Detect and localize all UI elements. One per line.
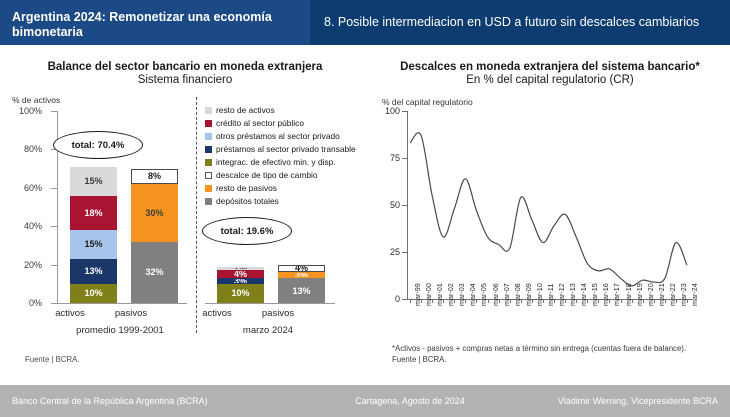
y-tick-label-40: 40% xyxy=(8,221,42,231)
bar-segment-label: 8% xyxy=(148,171,161,181)
x-axis-tick xyxy=(609,299,610,303)
x-axis-tick xyxy=(687,299,688,303)
x-axis-tick xyxy=(632,299,633,303)
legend-item-label: integrac. de efectivo min. y disp. xyxy=(216,157,336,167)
legend-swatch-icon xyxy=(205,120,212,127)
bar-segment[interactable]: 13% xyxy=(278,278,325,303)
bar-segment[interactable]: 10% xyxy=(70,284,117,303)
y-tick-100 xyxy=(51,111,57,112)
header-left-block: Argentina 2024: Remonetizar una economía… xyxy=(0,0,310,45)
bar-segment[interactable]: 13% xyxy=(70,259,117,284)
bar-stack-pasivos-2024[interactable]: 13%3%4% xyxy=(278,265,325,303)
x-axis-tick xyxy=(410,299,411,303)
right-chart-title: Descalces en moneda extranjera del siste… xyxy=(370,61,730,73)
legend-item-label: resto de pasivos xyxy=(216,183,277,193)
x-axis-tick xyxy=(665,299,666,303)
legend-item[interactable]: resto de activos xyxy=(205,105,370,115)
x-axis-tick xyxy=(565,299,566,303)
left-chart-source: Fuente | BCRA. xyxy=(25,355,79,364)
legend-item[interactable]: crédito al sector público xyxy=(205,118,370,128)
bar-segment-label: 13% xyxy=(84,266,102,276)
x-axis-tick xyxy=(554,299,555,303)
legend-item[interactable]: descalce de tipo de cambio xyxy=(205,170,370,180)
x-axis-tick xyxy=(465,299,466,303)
x-axis-tick xyxy=(510,299,511,303)
right-y-tick-100 xyxy=(402,111,407,112)
y-tick-label-60: 60% xyxy=(8,183,42,193)
legend-swatch-icon xyxy=(205,107,212,114)
y-tick-0 xyxy=(51,303,57,304)
y-tick-label-0: 0% xyxy=(8,298,42,308)
x-axis-tick xyxy=(532,299,533,303)
x-axis-tick xyxy=(499,299,500,303)
cat-label-pasivos-1999: pasivos xyxy=(91,308,171,319)
total-badge-1999: total: 70.4% xyxy=(53,131,143,159)
right-chart-subtitle: En % del capital regulatorio (CR) xyxy=(370,74,730,86)
bar-segment[interactable]: 10% xyxy=(217,284,264,303)
legend-item-label: resto de activos xyxy=(216,105,275,115)
left-x-axis-line-group1 xyxy=(57,303,187,304)
bar-stack-pasivos-1999[interactable]: 32%30%8% xyxy=(131,169,178,303)
bar-segment-label: 10% xyxy=(231,288,249,298)
header-right-block: 8. Posible intermediacion en USD a futur… xyxy=(310,0,730,45)
bar-segment-label: 32% xyxy=(145,267,163,277)
x-axis-tick xyxy=(443,299,444,303)
x-axis-tick xyxy=(543,299,544,303)
x-axis-tick xyxy=(432,299,433,303)
x-axis-tick xyxy=(621,299,622,303)
left-chart-title: Balance del sector bancario en moneda ex… xyxy=(0,61,370,73)
right-chart-panel: Descalces en moneda extranjera del siste… xyxy=(370,45,730,385)
legend-item-label: depósitos totales xyxy=(216,196,279,206)
panel-divider xyxy=(196,97,197,333)
y-tick-20 xyxy=(51,265,57,266)
line-series-path xyxy=(410,133,687,286)
legend-swatch-icon xyxy=(205,133,212,140)
right-chart-notes: *Activos - pasivos + compras netas a tér… xyxy=(392,343,686,365)
x-axis-tick xyxy=(521,299,522,303)
legend-swatch-icon xyxy=(205,146,212,153)
y-tick-label-80: 80% xyxy=(8,144,42,154)
right-y-label-75: 75 xyxy=(372,153,400,163)
x-axis-tick xyxy=(488,299,489,303)
legend-item-label: crédito al sector público xyxy=(216,118,304,128)
cat-label-pasivos-2024: pasivos xyxy=(238,308,318,319)
total-badge-1999-text: total: 70.4% xyxy=(72,140,125,151)
slide-section-title: 8. Posible intermediacion en USD a futur… xyxy=(324,15,699,30)
y-tick-60 xyxy=(51,188,57,189)
right-y-label-100: 100 xyxy=(372,106,400,116)
bar-segment-label: 15% xyxy=(84,176,102,186)
group-label-1999: promedio 1999-2001 xyxy=(40,325,200,336)
x-axis-tick xyxy=(421,299,422,303)
bar-segment-label: 18% xyxy=(84,208,102,218)
bar-segment[interactable]: 30% xyxy=(131,184,178,242)
legend-swatch-icon xyxy=(205,198,212,205)
right-y-label-0: 0 xyxy=(372,294,400,304)
bar-segment-label: 13% xyxy=(292,286,310,296)
left-chart-subtitle: Sistema financiero xyxy=(0,74,370,86)
bar-segment[interactable]: 18% xyxy=(70,196,117,231)
x-axis-tick xyxy=(454,299,455,303)
bar-segment-label: 10% xyxy=(84,288,102,298)
slide-footer: Banco Central de la República Argentina … xyxy=(0,385,730,417)
left-chart-legend: resto de activoscrédito al sector públic… xyxy=(205,105,370,209)
bar-segment[interactable]: 15% xyxy=(70,167,117,196)
legend-swatch-icon xyxy=(205,172,212,179)
x-axis-tick xyxy=(476,299,477,303)
right-line-chart: % del capital regulatorio 100 75 50 25 0… xyxy=(370,97,730,347)
legend-swatch-icon xyxy=(205,185,212,192)
left-chart-panel: Balance del sector bancario en moneda ex… xyxy=(0,45,370,385)
right-y-tick-0 xyxy=(402,299,407,300)
legend-item-label: préstamos al sector privado transable xyxy=(216,144,356,154)
left-y-axis-unit: % de activos xyxy=(12,95,60,105)
right-chart-source: Fuente | BCRA. xyxy=(392,354,686,365)
bar-segment-label: 30% xyxy=(145,208,163,218)
bar-segment-label: 4% xyxy=(295,265,308,273)
x-axis-tick xyxy=(587,299,588,303)
bar-segment[interactable]: 4% xyxy=(278,265,325,273)
group-label-2024: marzo 2024 xyxy=(188,325,348,336)
legend-item[interactable]: otros préstamos al sector privado xyxy=(205,131,370,141)
right-y-tick-25 xyxy=(402,252,407,253)
right-y-label-50: 50 xyxy=(372,200,400,210)
presentation-title: Argentina 2024: Remonetizar una economía… xyxy=(12,10,298,40)
bar-segment[interactable]: 32% xyxy=(131,242,178,303)
bar-segment-label: 4% xyxy=(234,270,247,278)
legend-item-label: descalce de tipo de cambio xyxy=(216,170,318,180)
right-y-label-25: 25 xyxy=(372,247,400,257)
footer-event: Cartagena, Agosto de 2024 xyxy=(312,396,508,406)
right-chart-footnote: *Activos - pasivos + compras netas a tér… xyxy=(392,343,686,354)
right-y-tick-50 xyxy=(402,205,407,206)
total-badge-2024: total: 19.6% xyxy=(202,217,292,245)
legend-item[interactable]: integrac. de efectivo min. y disp. xyxy=(205,157,370,167)
y-tick-40 xyxy=(51,226,57,227)
y-tick-label-20: 20% xyxy=(8,260,42,270)
x-axis-tick xyxy=(598,299,599,303)
legend-item[interactable]: depósitos totales xyxy=(205,196,370,206)
total-badge-2024-text: total: 19.6% xyxy=(221,226,274,237)
footer-author: Vladimir Werning, Vicepresidente BCRA xyxy=(508,396,718,406)
right-y-tick-75 xyxy=(402,158,407,159)
x-axis-tick xyxy=(676,299,677,303)
footer-institution: Banco Central de la República Argentina … xyxy=(12,396,312,406)
legend-swatch-icon xyxy=(205,159,212,166)
line-series-plot xyxy=(408,111,693,299)
x-axis-tick xyxy=(576,299,577,303)
bar-segment-label: 15% xyxy=(84,239,102,249)
legend-item-label: otros préstamos al sector privado xyxy=(216,131,340,141)
slide-header: Argentina 2024: Remonetizar una economía… xyxy=(0,0,730,45)
y-tick-label-100: 100% xyxy=(8,106,42,116)
legend-item[interactable]: préstamos al sector privado transable xyxy=(205,144,370,154)
x-axis-label: mar-24 xyxy=(690,283,699,306)
bar-segment[interactable]: 4% xyxy=(217,270,264,278)
left-x-axis-line-group2 xyxy=(205,303,335,304)
x-axis-tick xyxy=(654,299,655,303)
bar-stack-activos-2024[interactable]: 10%3%4%2% xyxy=(217,267,264,303)
bar-segment[interactable]: 8% xyxy=(131,169,178,184)
bar-stack-activos-1999[interactable]: 10%13%15%18%15% xyxy=(70,167,117,303)
x-axis-tick xyxy=(643,299,644,303)
bar-segment[interactable]: 15% xyxy=(70,230,117,259)
legend-item[interactable]: resto de pasivos xyxy=(205,183,370,193)
